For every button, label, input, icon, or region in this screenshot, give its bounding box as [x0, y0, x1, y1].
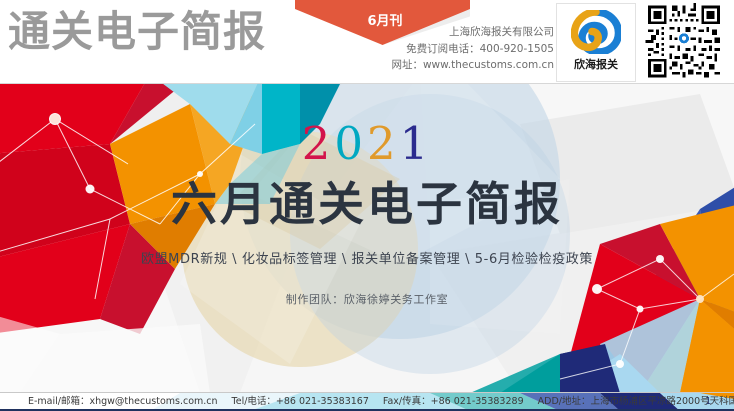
- cover-team-line: 制作团队：欣海徐婷关务工作室: [0, 292, 734, 308]
- qr-code[interactable]: [645, 3, 723, 80]
- footer-fax: Fax/传真：+86 021-35383289: [383, 396, 524, 407]
- footer-contact-line: E-mail/邮箱：xhgw@thecustoms.com.cnTel/电话：+…: [28, 394, 734, 410]
- page-number: 1: [705, 394, 711, 410]
- footer-divider-top: [0, 392, 734, 393]
- company-logo: 欣海报关: [556, 3, 636, 82]
- newsletter-cover-slide: 2021 六月通关电子简报 欧盟MDR新规 \ 化妆品标签管理 \ 报关单位备案…: [0, 0, 734, 411]
- logo-wordmark: 欣海报关: [557, 56, 635, 72]
- year-digit-3: 2: [367, 117, 400, 170]
- header-divider: [0, 83, 734, 84]
- footer-tel: Tel/电话：+86 021-35383167: [232, 396, 369, 407]
- subscribe-phone: 免费订阅电话：400-920-1505: [391, 41, 554, 58]
- cover-year: 2021: [0, 118, 734, 170]
- year-digit-2: 0: [334, 117, 367, 170]
- footer-email[interactable]: E-mail/邮箱：xhgw@thecustoms.com.cn: [28, 396, 218, 407]
- brand-title: 通关电子简报: [8, 9, 266, 55]
- year-digit-4: 1: [400, 117, 433, 170]
- website-url[interactable]: 网址：www.thecustoms.com.cn: [391, 57, 554, 74]
- page-header: 通关电子简报 6月刊 上海欣海报关有限公司 免费订阅电话：400-920-150…: [0, 0, 734, 84]
- spiral-logo-icon: [571, 10, 621, 54]
- company-name: 上海欣海报关有限公司: [391, 24, 554, 41]
- cover-main-title: 六月通关电子简报: [0, 175, 734, 233]
- qr-code-icon: [645, 3, 723, 80]
- year-digit-1: 2: [302, 117, 335, 170]
- header-contact-block: 上海欣海报关有限公司 免费订阅电话：400-920-1505 网址：www.th…: [391, 24, 554, 74]
- cover-sub-title: 欧盟MDR新规 \ 化妆品标签管理 \ 报关单位备案管理 \ 5-6月检验检疫政…: [0, 250, 734, 270]
